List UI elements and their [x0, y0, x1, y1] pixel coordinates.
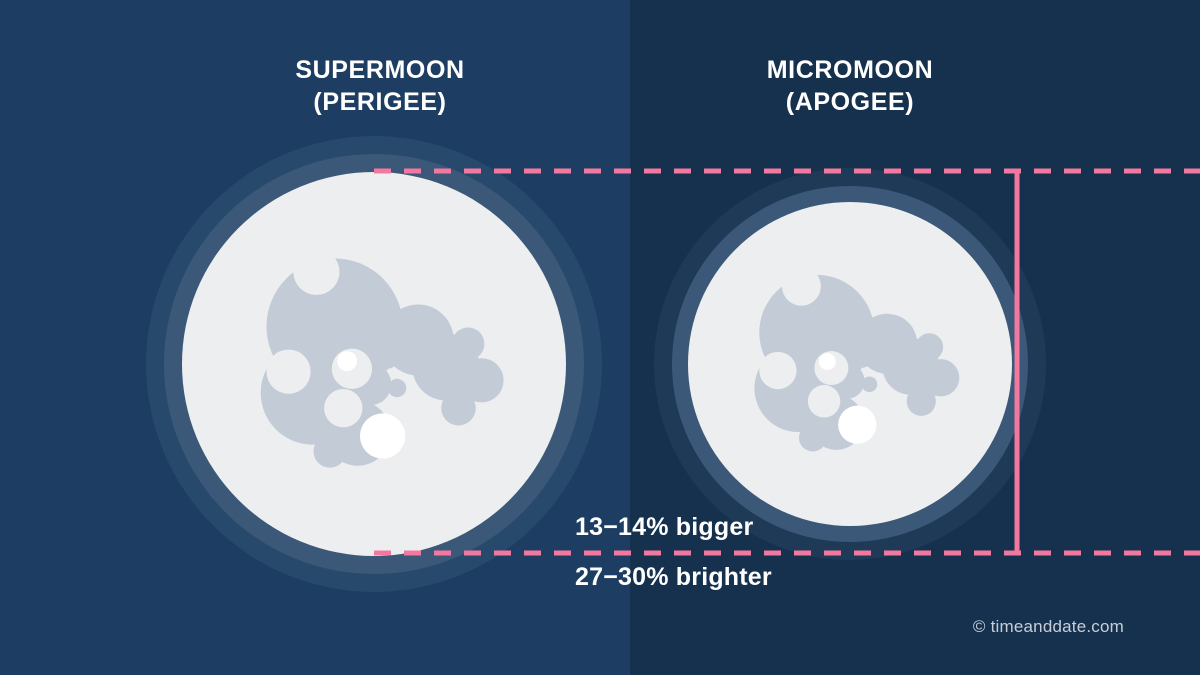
watermark: © timeanddate.com: [973, 617, 1124, 637]
infographic-canvas: SUPERMOON (PERIGEE) MICROMOON (APOGEE) 1…: [0, 0, 1200, 675]
copyright-icon: ©: [973, 617, 986, 636]
supermoon-ray-gap-upper: [293, 249, 339, 295]
supermoon-mare-center-tiny3: [388, 379, 406, 397]
watermark-text: timeanddate.com: [991, 617, 1124, 636]
micromoon-mare-center-tiny3: [862, 376, 878, 392]
supermoon-mare-right-small: [452, 328, 485, 361]
micromoon-crater-bright-big: [838, 406, 876, 444]
supermoon-crater-bright-big: [360, 413, 405, 458]
supermoon-mare-lower-knob2: [314, 435, 347, 468]
supermoon-mare-right-low: [441, 391, 476, 426]
supermoon-crater-bright-sm: [337, 351, 357, 371]
brightness-comparison-label: 27−30% brighter: [575, 563, 772, 592]
supermoon-mare-center-tiny2: [393, 352, 412, 371]
supermoon-title-line2: (PERIGEE): [180, 86, 580, 118]
supermoon-title: SUPERMOON (PERIGEE): [180, 54, 580, 118]
micromoon-crater-bright-sm: [819, 353, 836, 370]
micromoon-ray-gap-upper: [782, 267, 821, 306]
micromoon-ray-gap-lower: [808, 385, 840, 417]
micromoon-title: MICROMOON (APOGEE): [650, 54, 1050, 118]
supermoon-title-line1: SUPERMOON: [295, 56, 464, 84]
micromoon-title-line1: MICROMOON: [767, 56, 934, 84]
micromoon-mare-right-small: [916, 333, 944, 361]
size-comparison-label: 13−14% bigger: [575, 513, 753, 542]
micromoon-mare-lower-knob2: [799, 424, 827, 452]
micromoon-mare-center-tiny2: [866, 353, 882, 369]
micromoon-title-line2: (APOGEE): [650, 86, 1050, 118]
supermoon-ray-gap-lower: [324, 389, 362, 427]
supermoon-group: [146, 136, 602, 592]
micromoon-ray-gap-left: [759, 352, 796, 389]
supermoon-ray-gap-left: [266, 350, 310, 394]
micromoon-group: [654, 168, 1046, 560]
micromoon-mare-right-low: [907, 387, 936, 416]
